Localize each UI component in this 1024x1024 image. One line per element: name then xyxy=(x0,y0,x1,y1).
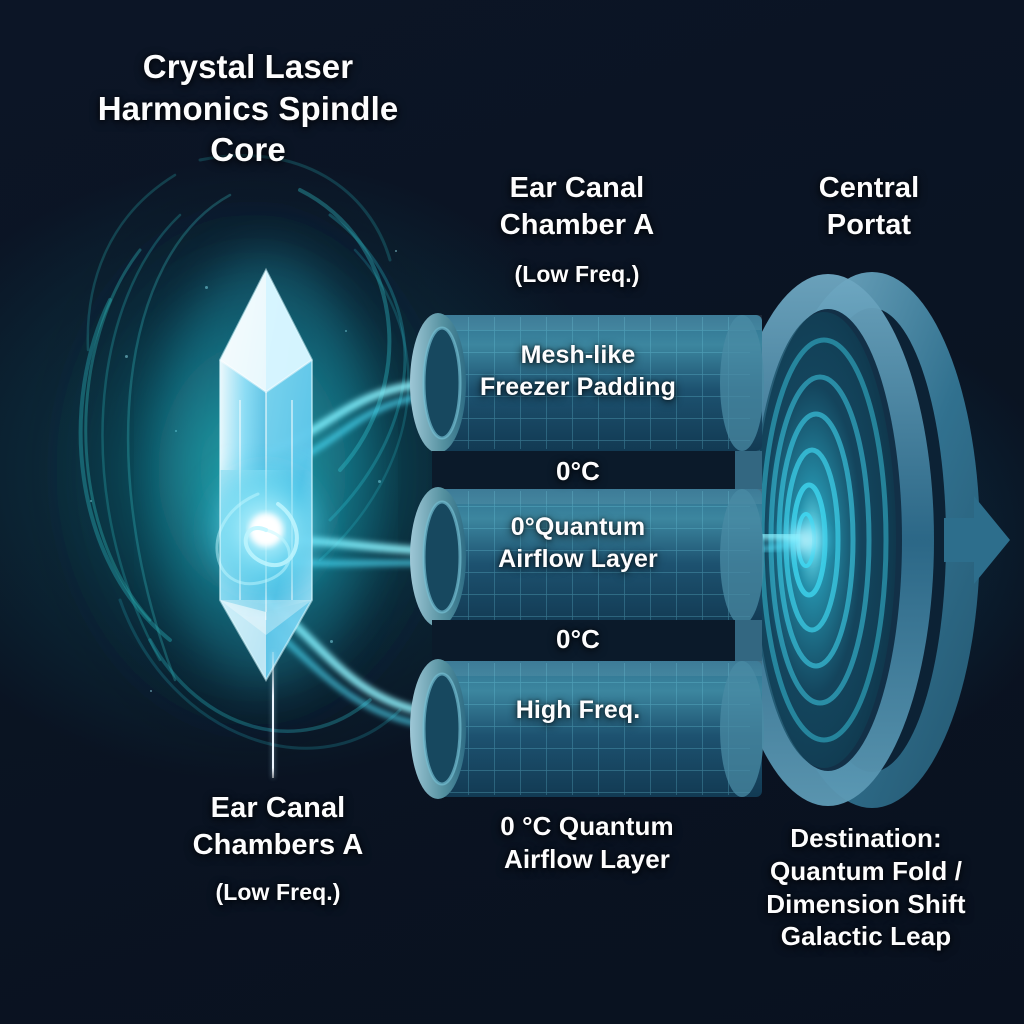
diagram-canvas: Crystal Laser Harmonics Spindle Core Ear… xyxy=(0,0,1024,1024)
portal-heading: Central Portat xyxy=(744,170,994,243)
cylinder-label-mesh-like-freezer-padding: Mesh-like Freezer Padding xyxy=(452,340,704,403)
ear-canal-chambers-sublabel: (Low Freq.) xyxy=(118,878,438,907)
chamber-subheading: (Low Freq.) xyxy=(432,260,722,289)
crystal-core-title: Crystal Laser Harmonics Spindle Core xyxy=(38,46,458,171)
quantum-airflow-caption: 0 °C Quantum Airflow Layer xyxy=(452,810,722,876)
cylinder-label-high-freq: High Freq. xyxy=(452,695,704,727)
chamber-heading: Ear Canal Chamber A xyxy=(432,170,722,243)
destination-caption: Destination: Quantum Fold / Dimension Sh… xyxy=(718,822,1014,953)
crystal-core xyxy=(156,250,376,690)
crystal-leader-line xyxy=(272,652,274,778)
ear-canal-chambers-label: Ear Canal Chambers A xyxy=(118,790,438,863)
temperature-label-1: 0°C xyxy=(452,455,704,488)
temperature-label-2: 0°C xyxy=(452,623,704,656)
cylinder-label-quantum-airflow-layer: 0°Quantum Airflow Layer xyxy=(452,512,704,575)
